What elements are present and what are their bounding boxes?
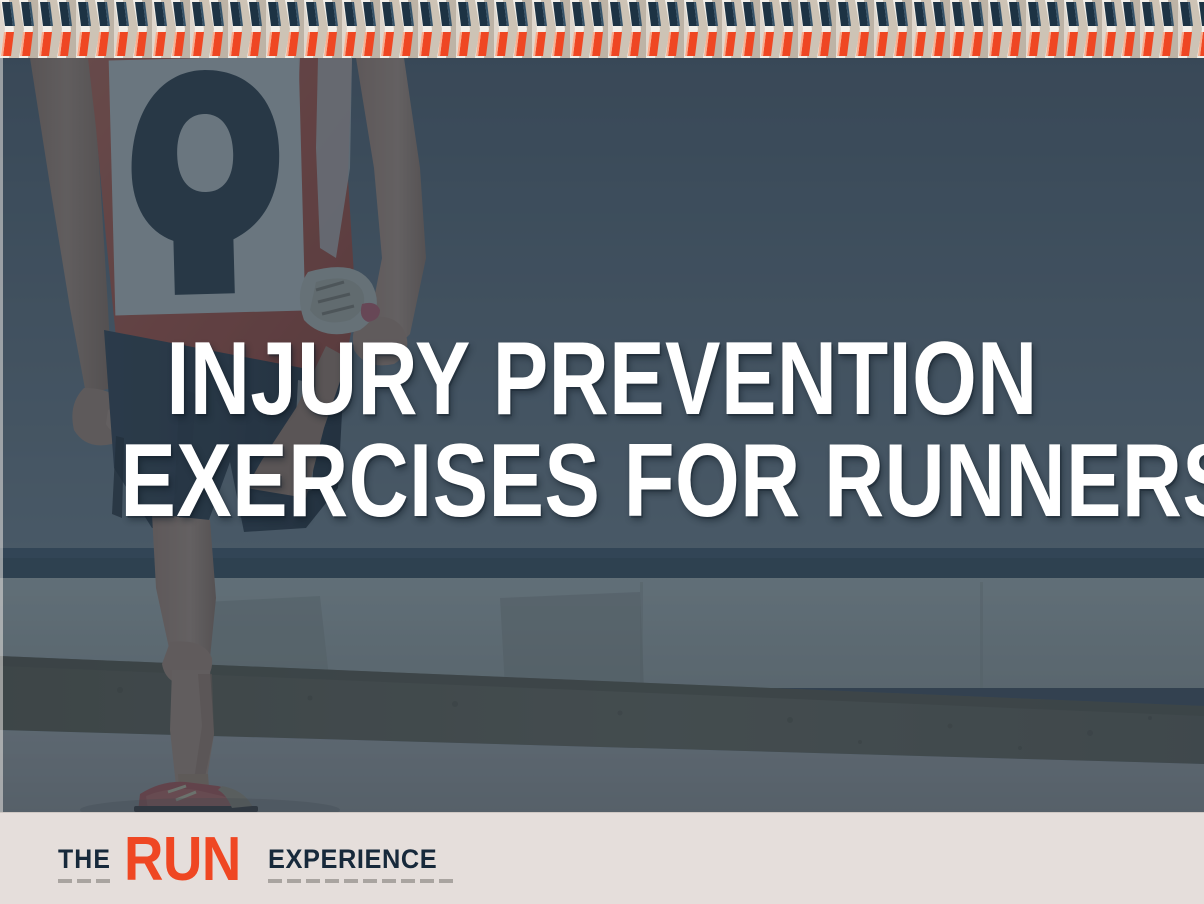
chevron-pattern-svg (0, 0, 1204, 58)
hero-photo (0, 58, 1204, 812)
logo-dash (382, 879, 396, 883)
logo-dash (363, 879, 377, 883)
runner-photo-illustration (0, 58, 1204, 812)
logo-dash (344, 879, 358, 883)
logo-dash (325, 879, 339, 883)
logo-dashes-the (58, 879, 116, 883)
logo-dash (439, 879, 453, 883)
logo-dash (96, 879, 110, 883)
logo-dash (306, 879, 320, 883)
logo-the-group: THE (58, 829, 116, 883)
logo-word-experience: EXPERIENCE (268, 829, 442, 873)
left-edge-highlight (0, 58, 3, 812)
logo-dash (420, 879, 434, 883)
logo-dash (287, 879, 301, 883)
logo-experience-group: EXPERIENCE (262, 829, 453, 883)
chevron-pattern-band (0, 0, 1204, 58)
logo-dash (401, 879, 415, 883)
logo-dash (77, 879, 91, 883)
slide-footer: THE RUN EXPERIENCE (0, 812, 1204, 904)
logo-word-run: RUN (124, 829, 241, 891)
title-slide: INJURY PREVENTION EXERCISES FOR RUNNERS … (0, 0, 1204, 904)
logo-word-the: THE (58, 829, 111, 873)
logo-dash (58, 879, 72, 883)
logo-dashes-experience (268, 879, 453, 883)
logo-dash (268, 879, 282, 883)
the-run-experience-logo[interactable]: THE RUN EXPERIENCE (58, 829, 453, 891)
